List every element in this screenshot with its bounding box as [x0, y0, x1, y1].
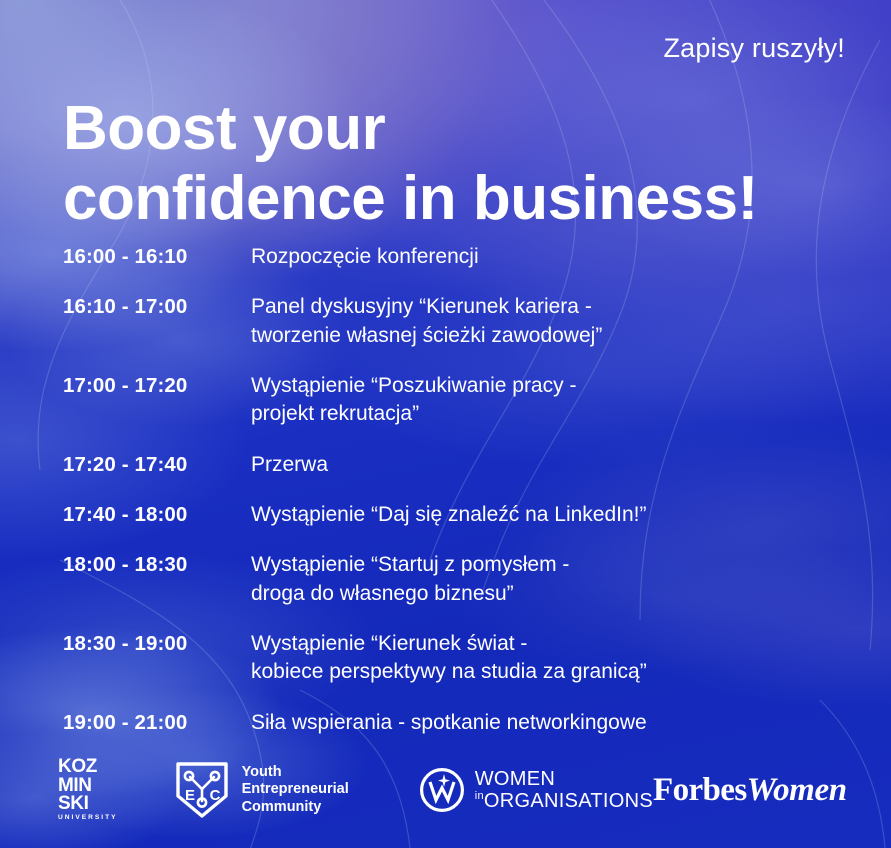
yec-line-2: Entrepreneurial	[242, 781, 349, 798]
yec-wordmark: Youth Entrepreneurial Community	[242, 764, 349, 816]
partner-logos: KOZ MIN SKI UNIVERSITY	[0, 740, 891, 840]
schedule-row-title-line-2: tworzenie własnej ścieżki zawodowej”	[251, 322, 851, 350]
schedule-row-title-line-2: kobiece perspektywy na studia za granicą…	[251, 658, 851, 686]
kozminski-line-1: KOZ	[58, 758, 118, 776]
schedule-row-title: Wystąpienie “Kierunek świat - kobiece pe…	[251, 630, 851, 687]
kozminski-wordmark: KOZ MIN SKI UNIVERSITY	[58, 758, 118, 821]
schedule-row-title: Wystąpienie “Poszukiwanie pracy - projek…	[251, 372, 851, 429]
schedule-row-time: 18:00 - 18:30	[63, 551, 251, 579]
yec-line-3: Community	[242, 799, 349, 816]
kicker-text: Zapisy ruszyły!	[663, 33, 845, 64]
schedule-row-title-line-1: Panel dyskusyjny “Kierunek kariera -	[251, 295, 592, 318]
headline-line-1: Boost your	[63, 94, 853, 165]
forbes-wordmark-part-1: Forbes	[653, 774, 747, 807]
schedule-row-title-line-1: Przerwa	[251, 453, 328, 476]
wio-line-2-prefix: in	[475, 790, 484, 802]
schedule-row: 17:40 - 18:00 Wystąpienie “Daj się znale…	[63, 501, 851, 529]
schedule-row-time: 16:10 - 17:00	[63, 293, 251, 321]
schedule-row-title-line-1: Wystąpienie “Daj się znaleźć na LinkedIn…	[251, 503, 647, 526]
schedule-row-title: Siła wspierania - spotkanie networkingow…	[251, 709, 851, 737]
wio-wordmark: WOMEN inORGANISATIONS	[475, 769, 653, 811]
schedule-row-time: 17:00 - 17:20	[63, 372, 251, 400]
schedule-row-title: Wystąpienie “Daj się znaleźć na LinkedIn…	[251, 501, 851, 529]
schedule-row-title-line-2: projekt rekrutacja”	[251, 400, 851, 428]
schedule-row: 17:20 - 17:40 Przerwa	[63, 451, 851, 479]
schedule-row-time: 17:20 - 17:40	[63, 451, 251, 479]
schedule-row-title: Wystąpienie “Startuj z pomysłem - droga …	[251, 551, 851, 608]
logo-youth-entrepreneurial-community: E C Youth Entrepreneurial Community	[174, 760, 349, 820]
headline-line-2: confidence in business!	[63, 164, 853, 235]
schedule-row-title: Rozpoczęcie konferencji	[251, 243, 851, 271]
svg-text:C: C	[209, 787, 220, 804]
logo-women-in-organisations: WOMEN inORGANISATIONS	[419, 767, 653, 813]
schedule-row: 18:00 - 18:30 Wystąpienie “Startuj z pom…	[63, 551, 851, 608]
schedule-row-title-line-1: Wystąpienie “Kierunek świat -	[251, 632, 527, 655]
schedule-row: 16:00 - 16:10 Rozpoczęcie konferencji	[63, 243, 851, 271]
logo-forbes-women: ForbesWomen	[653, 774, 847, 807]
schedule-row-title: Panel dyskusyjny “Kierunek kariera - two…	[251, 293, 851, 350]
wio-line-1: WOMEN	[475, 769, 653, 789]
wio-line-2-main: ORGANISATIONS	[484, 790, 653, 812]
schedule-row: 18:30 - 19:00 Wystąpienie “Kierunek świa…	[63, 630, 851, 687]
schedule-row: 16:10 - 17:00 Panel dyskusyjny “Kierunek…	[63, 293, 851, 350]
logo-kozminski-university: KOZ MIN SKI UNIVERSITY	[58, 758, 118, 821]
event-poster: Zapisy ruszyły! Boost your confidence in…	[0, 0, 891, 848]
kozminski-subtitle: UNIVERSITY	[58, 815, 118, 821]
schedule-row-title-line-1: Wystąpienie “Poszukiwanie pracy -	[251, 374, 576, 397]
wio-line-2: inORGANISATIONS	[475, 791, 653, 811]
schedule-row: 17:00 - 17:20 Wystąpienie “Poszukiwanie …	[63, 372, 851, 429]
forbes-wordmark-part-2: Women	[747, 774, 847, 807]
schedule-row-title: Przerwa	[251, 451, 851, 479]
page-title: Boost your confidence in business!	[63, 94, 853, 235]
schedule-row-time: 16:00 - 16:10	[63, 243, 251, 271]
schedule-row-time: 19:00 - 21:00	[63, 709, 251, 737]
schedule-row-title-line-1: Siła wspierania - spotkanie networkingow…	[251, 711, 647, 734]
schedule-row-time: 17:40 - 18:00	[63, 501, 251, 529]
w-circle-star-icon	[419, 767, 465, 813]
kozminski-line-3: SKI	[58, 795, 118, 813]
schedule-row: 19:00 - 21:00 Siła wspierania - spotkani…	[63, 709, 851, 737]
svg-text:E: E	[185, 787, 195, 804]
schedule-row-title-line-1: Rozpoczęcie konferencji	[251, 245, 479, 268]
schedule-row-title-line-1: Wystąpienie “Startuj z pomysłem -	[251, 553, 569, 576]
shield-molecule-icon: E C	[174, 760, 230, 820]
schedule-list: 16:00 - 16:10 Rozpoczęcie konferencji 16…	[63, 243, 851, 737]
schedule-row-title-line-2: droga do własnego biznesu”	[251, 580, 851, 608]
schedule-row-time: 18:30 - 19:00	[63, 630, 251, 658]
yec-line-1: Youth	[242, 764, 349, 781]
